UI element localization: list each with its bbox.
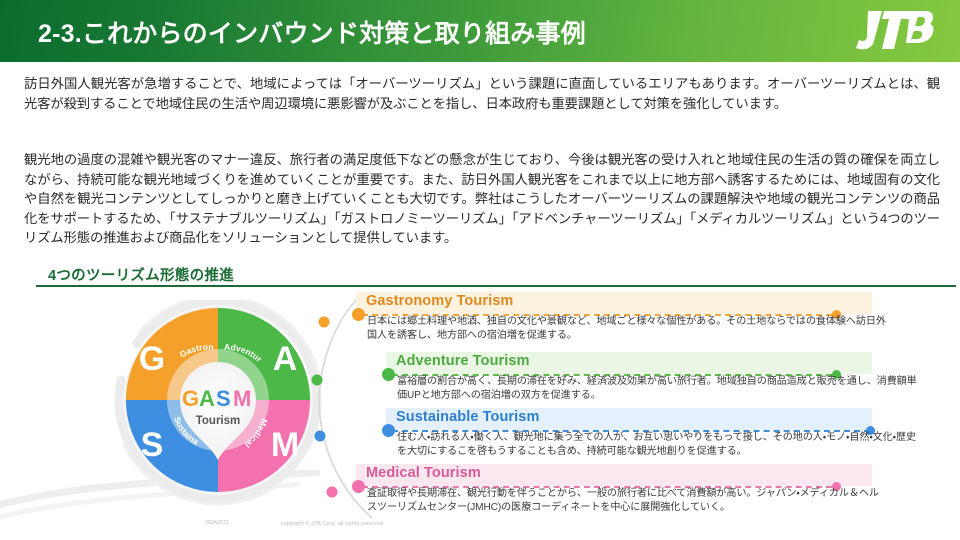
- footer-copyright: copyright © JTB Corp. all rights reserve…: [281, 521, 384, 527]
- acronym-m: M: [233, 386, 251, 411]
- donut-letter-s: S: [141, 426, 164, 464]
- jtb-logo: [848, 7, 934, 53]
- panel-title-sustainable: Sustainable Tourism: [396, 409, 539, 425]
- center-label: Tourism: [196, 415, 241, 427]
- anchor-dot-adventure: [312, 375, 323, 386]
- panel-dot-start-medical: [352, 480, 365, 493]
- acronym-g: G: [182, 386, 199, 411]
- donut-letter-g: G: [139, 340, 165, 378]
- panel-dot-start-gastronomy: [352, 308, 365, 321]
- panel-title-medical: Medical Tourism: [366, 465, 481, 481]
- slide-root: 2-3.これからのインバウンド対策と取り組み事例 訪日外国人観光客が急増すること…: [0, 0, 960, 540]
- acronym-s: S: [216, 386, 231, 411]
- donut-letter-m: M: [271, 426, 299, 464]
- panel-description-sustainable: 住む人・訪れる人・働く人、観光地に集う全ての人が、お互い思いやりをもって接し、そ…: [397, 431, 917, 460]
- panel-title-adventure: Adventure Tourism: [396, 353, 530, 369]
- page-title: 2-3.これからのインバウンド対策と取り組み事例: [38, 14, 586, 50]
- donut-letter-a: A: [273, 340, 298, 378]
- anchor-dot-medical: [327, 487, 338, 498]
- panel-dot-start-adventure: [382, 368, 395, 381]
- center-acronym: G A S M: [182, 386, 251, 411]
- intro-paragraph-1: 訪日外国人観光客が急増することで、地域によっては「オーバーツーリズム」という課題…: [24, 74, 940, 113]
- panel-dot-start-sustainable: [382, 424, 395, 437]
- gasm-donut-diagram: G A S M Gastronomy Adventure Sustainable…: [112, 300, 324, 506]
- footer-date: 2024/3/31: [205, 520, 229, 526]
- section-heading: 4つのツーリズム形態の推進: [48, 264, 234, 285]
- panel-title-gastronomy: Gastronomy Tourism: [366, 293, 513, 309]
- panel-description-gastronomy: 日本には郷土料理や地酒、独自の文化や景観など、地域ごと様々な個性がある。その土地…: [367, 315, 887, 344]
- acronym-a: A: [199, 386, 215, 411]
- intro-paragraph-2: 観光地の過度の混雑や観光客のマナー違反、旅行者の満足度低下などの懸念が生じており…: [24, 150, 940, 248]
- slide-header: 2-3.これからのインバウンド対策と取り組み事例: [0, 0, 960, 62]
- panel-description-medical: 査証取得や長期滞在、観光行動を伴うことから、一般の旅行者に比べて消費額が高い。ジ…: [367, 487, 887, 516]
- anchor-dot-gastronomy: [319, 317, 330, 328]
- panel-description-adventure: 富裕層の割合が高く、長期の滞在を好み、経済波及効果が高い旅行者。地域独自の商品造…: [397, 375, 917, 404]
- section-divider: [36, 285, 956, 287]
- anchor-dot-sustainable: [315, 431, 326, 442]
